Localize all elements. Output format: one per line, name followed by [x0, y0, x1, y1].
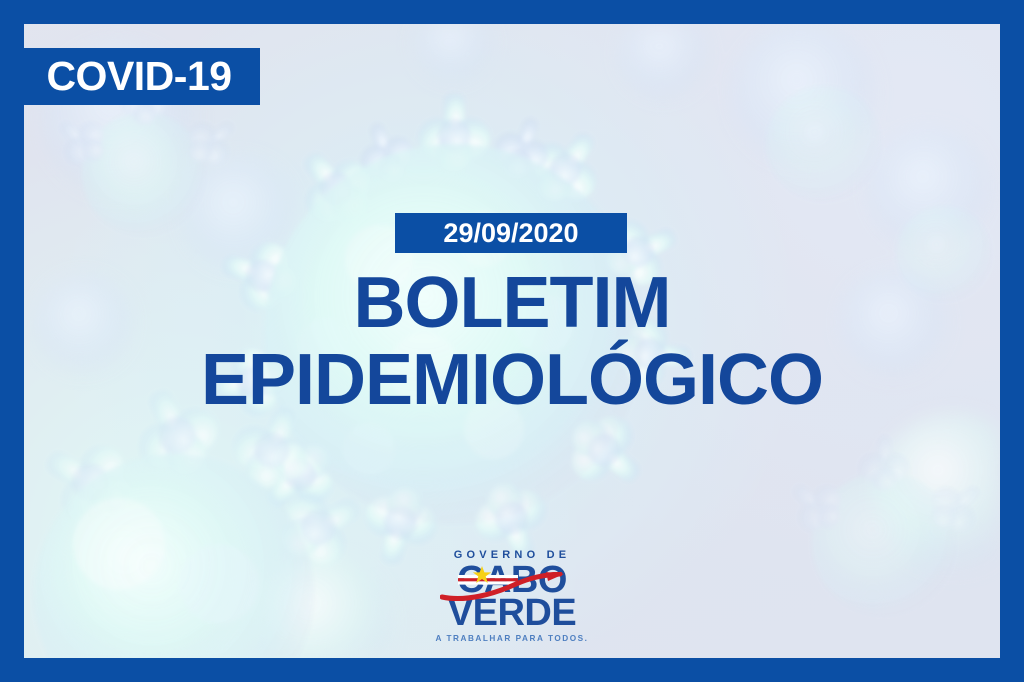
page-title: BOLETIM EPIDEMIOLÓGICO — [0, 268, 1024, 415]
logo-wordmark: CABO VERDE — [432, 564, 592, 631]
covid-19-badge: COVID-19 — [0, 48, 260, 105]
page-title-line-1: BOLETIM — [0, 268, 1024, 339]
date-badge: 29/09/2020 — [395, 213, 627, 253]
governo-cabo-verde-logo: GOVERNO DE CABO VERDE A TRABALHAR PARA T… — [397, 550, 627, 643]
covid-19-badge-label: COVID-19 — [28, 56, 231, 97]
covid-bulletin-poster: COVID-19 29/09/2020 BOLETIM EPIDEMIOLÓGI… — [0, 0, 1024, 682]
date-badge-value: 29/09/2020 — [443, 220, 578, 247]
logo-verde-text: VERDE — [432, 597, 592, 630]
logo-tagline: A TRABALHAR PARA TODOS. — [397, 635, 627, 643]
page-title-line-2: EPIDEMIOLÓGICO — [0, 345, 1024, 416]
